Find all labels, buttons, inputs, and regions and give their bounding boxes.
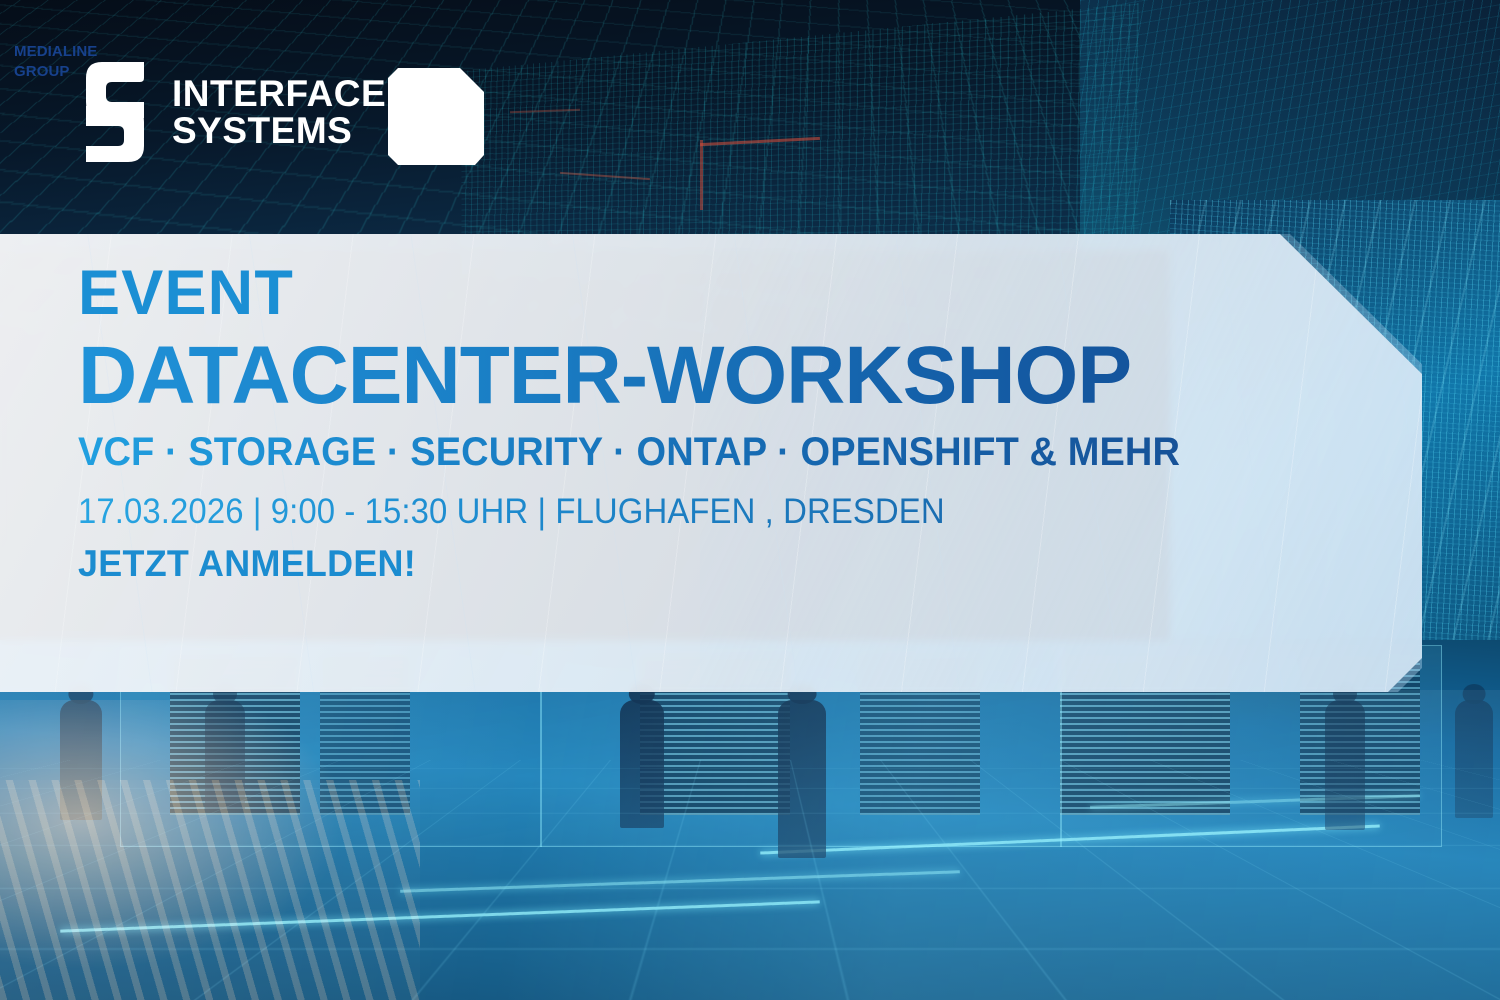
company-name-line2: SYSTEMS — [172, 112, 386, 149]
topic-list: VCF · STORAGE · SECURITY · ONTAP · OPENS… — [78, 431, 1313, 473]
page-title: DATACENTER-WORKSHOP — [78, 335, 1378, 417]
register-cta[interactable]: JETZT ANMELDEN! — [78, 544, 1339, 585]
event-details: 17.03.2026 | 9:00 - 15:30 UHR | FLUGHAFE… — [78, 493, 1300, 532]
brand-logo-lockup: INTERFACE SYSTEMS — [84, 62, 386, 162]
medialine-group-logo — [388, 68, 484, 165]
event-banner: INTERFACE SYSTEMS MEDIALINE GROUP EVENT … — [0, 0, 1500, 1000]
event-kicker: EVENT — [78, 262, 1378, 325]
red-accent-line — [700, 140, 703, 210]
company-name: INTERFACE SYSTEMS — [172, 75, 386, 149]
company-name-line1: INTERFACE — [172, 75, 386, 112]
partner-name-line1: MEDIALINE — [14, 42, 97, 62]
medialine-group-logo-text: MEDIALINE GROUP — [14, 42, 97, 83]
partner-name-line2: GROUP — [14, 62, 97, 82]
amber-floor-streaks — [0, 780, 420, 1000]
banner-content: EVENT DATACENTER-WORKSHOP VCF · STORAGE … — [78, 262, 1378, 584]
